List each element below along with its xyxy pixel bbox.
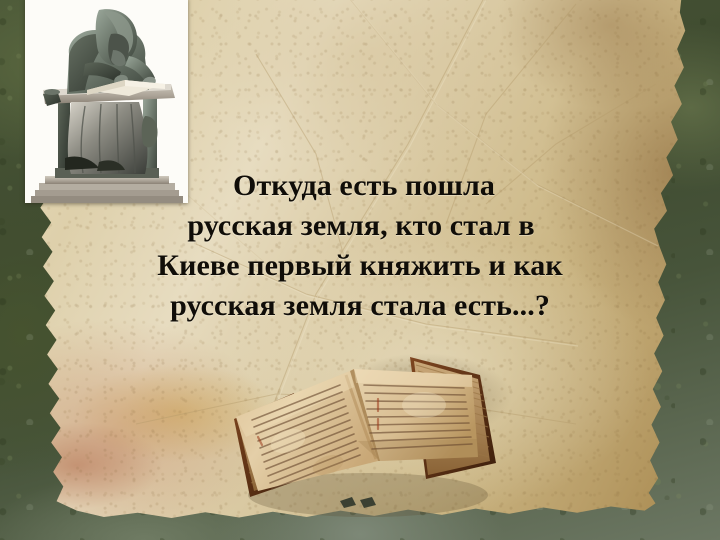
quote-line-1: Откуда есть пошла	[60, 166, 660, 206]
open-book-illustration	[228, 345, 518, 510]
presentation-slide: Откуда есть пошла русская земля, кто ста…	[0, 0, 720, 540]
open-book-icon	[228, 345, 518, 510]
quote-line-3: Киеве первый княжить и как	[60, 246, 660, 286]
quote-line-4: русская земля стала есть...?	[60, 286, 660, 326]
quote-line-2: русская земля, кто стал в	[60, 206, 660, 246]
quote-text: Откуда есть пошла русская земля, кто ста…	[60, 166, 660, 326]
